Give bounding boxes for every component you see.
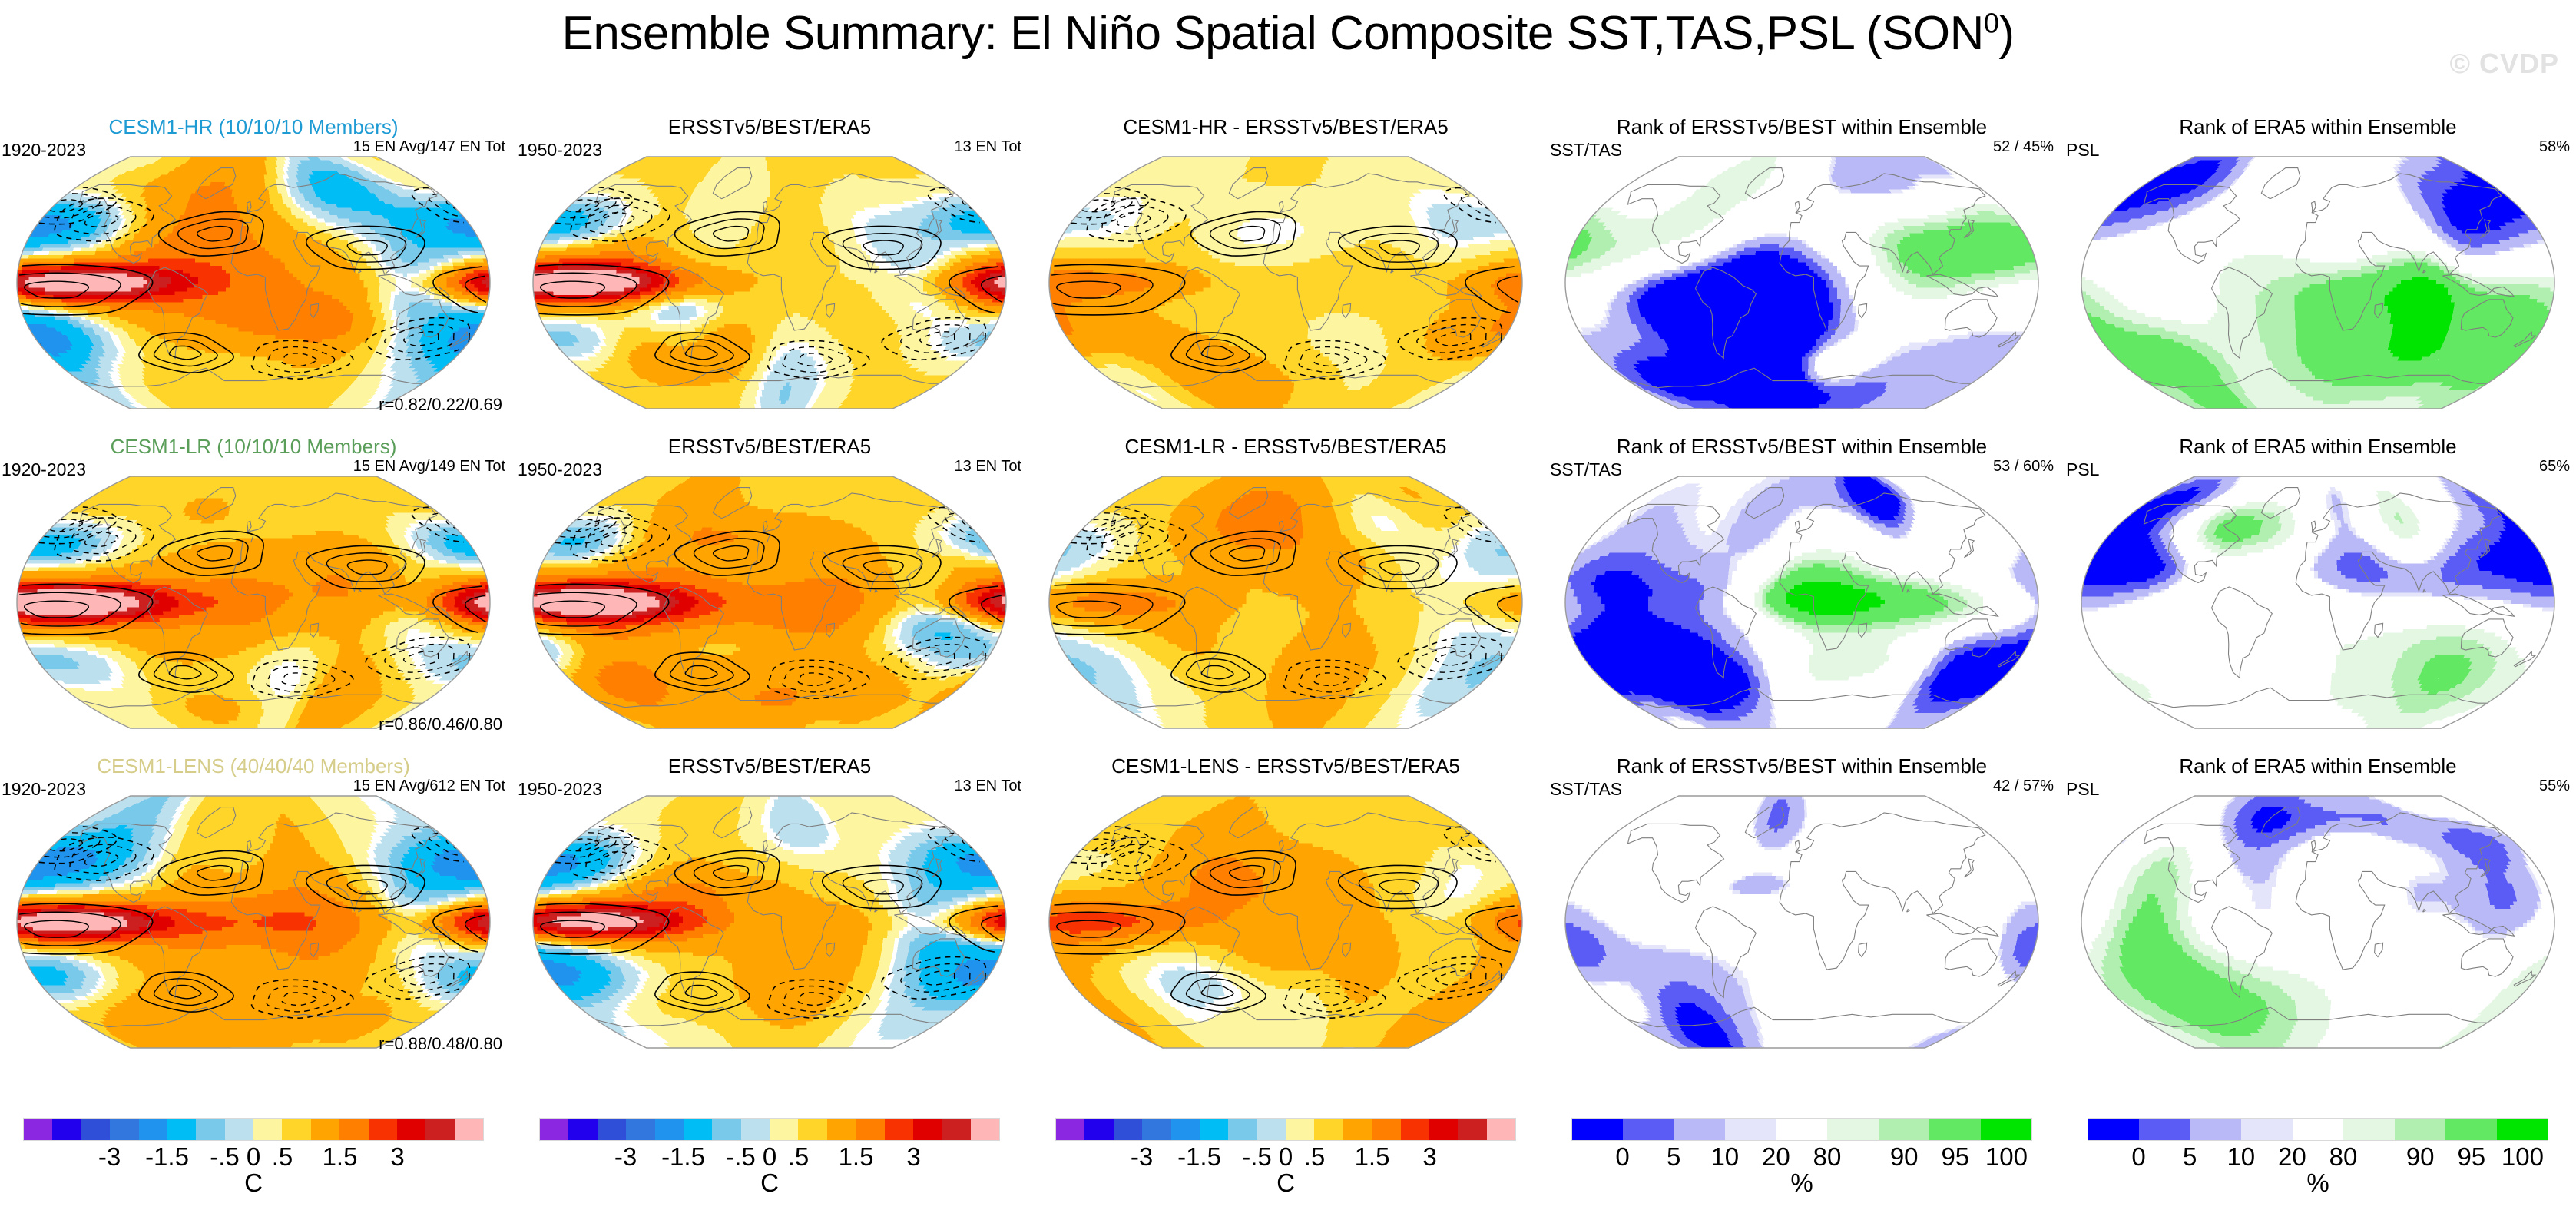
colorbar-swatch-12 xyxy=(1401,1119,1429,1140)
colorbar-swatch-0 xyxy=(1572,1119,1623,1140)
colorbar-swatch-14 xyxy=(425,1119,454,1140)
panel-label-right: 58% xyxy=(2539,138,2570,156)
page-title-tail: ) xyxy=(1998,7,2014,60)
colorbar-swatch-7 xyxy=(225,1119,253,1140)
panel-label-right: 15 EN Avg/612 EN Tot xyxy=(353,777,505,795)
colorbar-swatch-13 xyxy=(913,1119,942,1140)
colorbar-swatch-1 xyxy=(568,1119,597,1140)
colorbar-swatches xyxy=(539,1118,1000,1141)
colorbar-swatch-6 xyxy=(196,1119,224,1140)
colorbar-swatch-12 xyxy=(369,1119,397,1140)
colorbar-swatch-8 xyxy=(1981,1119,2031,1140)
colorbar-swatch-9 xyxy=(282,1119,310,1140)
colorbar-swatch-0 xyxy=(24,1119,52,1140)
colorbar-tick-label: .5 xyxy=(788,1142,810,1172)
map-rank-psl xyxy=(2071,455,2565,741)
colorbar-tick-label: -3 xyxy=(1131,1142,1153,1172)
map-rank-psl xyxy=(2071,774,2565,1060)
colorbar-tick-label: 100 xyxy=(2502,1142,2544,1172)
colorbar-swatch-2 xyxy=(1674,1119,1725,1140)
colorbar-swatch-7 xyxy=(741,1119,770,1140)
colorbar-swatches xyxy=(1055,1118,1516,1141)
colorbar-swatch-3 xyxy=(110,1119,138,1140)
colorbar-swatch-14 xyxy=(1458,1119,1486,1140)
colorbar-swatch-7 xyxy=(1257,1119,1286,1140)
panel-label-left: 1920-2023 xyxy=(2,459,86,480)
map-model-composite xyxy=(6,774,501,1060)
panel-label-left: 1950-2023 xyxy=(518,140,602,161)
colorbar-swatch-1 xyxy=(52,1119,81,1140)
colorbar-tick-label: 3 xyxy=(1422,1142,1436,1172)
page-title: Ensemble Summary: El Niño Spatial Compos… xyxy=(0,6,2576,61)
colorbar-tick-label: 90 xyxy=(1890,1142,1919,1172)
panel-r2-obs-composite: ERSSTv5/BEST/ERA51950-202313 EN Tot xyxy=(516,435,1023,748)
colorbar-swatch-2 xyxy=(81,1119,110,1140)
colorbar-tick-label: .5 xyxy=(272,1142,293,1172)
colorbar-swatch-5 xyxy=(1200,1119,1228,1140)
map-difference xyxy=(1038,774,1533,1060)
panel-r1-difference: CESM1-HR - ERSSTv5/BEST/ERA5 xyxy=(1032,115,1539,429)
colorbar-swatch-4 xyxy=(1776,1119,1827,1140)
colorbar-swatch-1 xyxy=(1623,1119,1674,1140)
panel-r2-difference: CESM1-LR - ERSSTv5/BEST/ERA5 xyxy=(1032,435,1539,748)
panel-label-right: 13 EN Tot xyxy=(955,458,1021,476)
colorbar-ticks: -3-1.5-.50.51.53 xyxy=(1055,1141,1516,1170)
colorbar-swatch-5 xyxy=(2343,1119,2394,1140)
panel-r1-model-composite: CESM1-HR (10/10/10 Members)1920-202315 E… xyxy=(0,115,507,429)
panel-correlation: r=0.88/0.48/0.80 xyxy=(379,1034,502,1054)
colorbar-tick-label: -.5 xyxy=(210,1142,240,1172)
colorbar-ticks: -3-1.5-.50.51.53 xyxy=(23,1141,484,1170)
map-obs-composite xyxy=(522,774,1017,1060)
colorbar-swatch-15 xyxy=(455,1119,483,1140)
colorbar-swatch-9 xyxy=(1314,1119,1343,1140)
cvdp-watermark: © CVDP xyxy=(2449,48,2559,80)
panel-label-right: 15 EN Avg/149 EN Tot xyxy=(353,458,505,476)
colorbar-swatch-4 xyxy=(2293,1119,2343,1140)
map-difference xyxy=(1038,455,1533,741)
colorbar-tick-label: -3 xyxy=(98,1142,121,1172)
colorbar-swatch-8 xyxy=(1286,1119,1314,1140)
colorbar-temperature-col2: -3-1.5-.50.51.53C xyxy=(539,1118,1000,1210)
colorbar-swatch-14 xyxy=(942,1119,970,1140)
colorbar-swatch-0 xyxy=(1056,1119,1084,1140)
colorbar-ticks: 051020809095100 xyxy=(1571,1141,2032,1170)
panel-label-right: 15 EN Avg/147 EN Tot xyxy=(353,138,505,156)
colorbar-unit: % xyxy=(1571,1169,2032,1198)
colorbar-tick-label: 1.5 xyxy=(1355,1142,1390,1172)
colorbar-swatch-2 xyxy=(598,1119,626,1140)
colorbar-tick-label: 20 xyxy=(2278,1142,2306,1172)
colorbar-unit: % xyxy=(2088,1169,2548,1198)
panel-r1-rank-sst-tas: Rank of ERSSTv5/BEST within EnsembleSST/… xyxy=(1548,115,2055,429)
panel-label-left: SST/TAS xyxy=(1550,459,1622,480)
colorbar-swatch-5 xyxy=(684,1119,712,1140)
panel-r1-rank-psl: Rank of ERA5 within EnsemblePSL58% xyxy=(2064,115,2571,429)
colorbar-swatch-8 xyxy=(770,1119,798,1140)
panel-label-right: 42 / 57% xyxy=(1993,777,2054,795)
colorbar-tick-label: 3 xyxy=(906,1142,920,1172)
colorbar-rank-col5: 051020809095100% xyxy=(2088,1118,2548,1210)
colorbar-swatch-5 xyxy=(167,1119,196,1140)
map-model-composite xyxy=(6,135,501,421)
panel-label-right: 13 EN Tot xyxy=(955,777,1021,795)
colorbar-tick-label: 0 xyxy=(2131,1142,2145,1172)
colorbar-swatches xyxy=(1571,1118,2032,1141)
colorbar-swatch-0 xyxy=(540,1119,568,1140)
panel-label-left: 1920-2023 xyxy=(2,140,86,161)
panel-label-left: SST/TAS xyxy=(1550,140,1622,161)
panel-r3-obs-composite: ERSSTv5/BEST/ERA51950-202313 EN Tot xyxy=(516,754,1023,1068)
map-rank-sst-tas xyxy=(1555,135,2049,421)
colorbar-tick-label: 100 xyxy=(1985,1142,2028,1172)
colorbar-swatch-2 xyxy=(1114,1119,1142,1140)
colorbar-swatch-6 xyxy=(2395,1119,2445,1140)
colorbar-tick-label: 10 xyxy=(1710,1142,1739,1172)
panel-label-right: 52 / 45% xyxy=(1993,138,2054,156)
colorbar-tick-label: -1.5 xyxy=(661,1142,705,1172)
colorbar-swatch-15 xyxy=(971,1119,999,1140)
panel-label-left: SST/TAS xyxy=(1550,779,1622,800)
colorbar-tick-label: 95 xyxy=(1941,1142,1969,1172)
colorbar-swatch-3 xyxy=(626,1119,654,1140)
panel-label-right: 53 / 60% xyxy=(1993,458,2054,476)
colorbar-tick-label: -1.5 xyxy=(1177,1142,1221,1172)
colorbar-swatch-11 xyxy=(339,1119,368,1140)
colorbar-tick-label: -3 xyxy=(614,1142,637,1172)
colorbar-swatch-12 xyxy=(885,1119,913,1140)
figure-canvas: Ensemble Summary: El Niño Spatial Compos… xyxy=(0,0,2576,1220)
colorbar-tick-label: 0 xyxy=(247,1142,260,1172)
colorbar-tick-label: 95 xyxy=(2457,1142,2485,1172)
colorbar-swatch-4 xyxy=(1171,1119,1200,1140)
colorbar-swatches xyxy=(2088,1118,2548,1141)
map-model-composite xyxy=(6,455,501,741)
panel-label-right: 13 EN Tot xyxy=(955,138,1021,156)
colorbar-swatch-6 xyxy=(712,1119,740,1140)
colorbar-swatch-10 xyxy=(827,1119,856,1140)
colorbar-tick-label: 0 xyxy=(763,1142,776,1172)
colorbar-tick-label: 0 xyxy=(1279,1142,1293,1172)
colorbar-swatch-11 xyxy=(856,1119,884,1140)
colorbar-swatch-8 xyxy=(253,1119,282,1140)
panel-r2-rank-sst-tas: Rank of ERSSTv5/BEST within EnsembleSST/… xyxy=(1548,435,2055,748)
panel-correlation: r=0.82/0.22/0.69 xyxy=(379,395,502,415)
colorbar-tick-label: 10 xyxy=(2227,1142,2255,1172)
colorbar-swatch-6 xyxy=(1879,1119,1929,1140)
panel-r2-rank-psl: Rank of ERA5 within EnsemblePSL65% xyxy=(2064,435,2571,748)
map-difference xyxy=(1038,135,1533,421)
panel-label-left: 1950-2023 xyxy=(518,459,602,480)
colorbar-swatch-3 xyxy=(1142,1119,1170,1140)
colorbar-tick-label: 5 xyxy=(2183,1142,2197,1172)
panel-label-left: PSL xyxy=(2066,140,2099,161)
colorbar-swatch-4 xyxy=(655,1119,684,1140)
colorbar-tick-label: 80 xyxy=(2329,1142,2358,1172)
colorbar-tick-label: 1.5 xyxy=(323,1142,358,1172)
colorbar-swatch-11 xyxy=(1372,1119,1400,1140)
map-rank-sst-tas xyxy=(1555,455,2049,741)
colorbar-unit: C xyxy=(23,1169,484,1198)
colorbar-swatch-13 xyxy=(397,1119,425,1140)
panel-label-left: PSL xyxy=(2066,459,2099,480)
colorbar-tick-label: 80 xyxy=(1813,1142,1842,1172)
colorbar-swatch-0 xyxy=(2088,1119,2139,1140)
colorbar-tick-label: 1.5 xyxy=(839,1142,874,1172)
colorbar-temperature-col1: -3-1.5-.50.51.53C xyxy=(23,1118,484,1210)
colorbar-ticks: -3-1.5-.50.51.53 xyxy=(539,1141,1000,1170)
panel-label-left: PSL xyxy=(2066,779,2099,800)
colorbar-tick-label: 3 xyxy=(390,1142,404,1172)
colorbar-swatch-6 xyxy=(1228,1119,1257,1140)
colorbar-swatch-9 xyxy=(798,1119,826,1140)
colorbar-unit: C xyxy=(1055,1169,1516,1198)
colorbar-tick-label: -1.5 xyxy=(145,1142,189,1172)
colorbar-swatch-4 xyxy=(139,1119,167,1140)
colorbar-swatches xyxy=(23,1118,484,1141)
colorbar-unit: C xyxy=(539,1169,1000,1198)
colorbar-tick-label: -.5 xyxy=(1242,1142,1272,1172)
colorbar-swatch-10 xyxy=(1343,1119,1372,1140)
colorbar-swatch-5 xyxy=(1827,1119,1878,1140)
map-rank-sst-tas xyxy=(1555,774,2049,1060)
colorbar-swatch-7 xyxy=(2445,1119,2496,1140)
colorbar-tick-label: -.5 xyxy=(726,1142,756,1172)
colorbar-swatch-10 xyxy=(311,1119,339,1140)
colorbar-swatch-7 xyxy=(1929,1119,1980,1140)
page-title-superscript: 0 xyxy=(1984,7,1999,38)
panel-label-left: 1920-2023 xyxy=(2,779,86,800)
colorbar-swatch-1 xyxy=(2139,1119,2190,1140)
colorbar-temperature-col3: -3-1.5-.50.51.53C xyxy=(1055,1118,1516,1210)
colorbar-swatch-13 xyxy=(1429,1119,1458,1140)
panel-r3-rank-psl: Rank of ERA5 within EnsemblePSL55% xyxy=(2064,754,2571,1068)
map-obs-composite xyxy=(522,455,1017,741)
colorbar-swatch-2 xyxy=(2190,1119,2241,1140)
map-obs-composite xyxy=(522,135,1017,421)
colorbar-tick-label: 20 xyxy=(1762,1142,1790,1172)
panel-label-right: 55% xyxy=(2539,777,2570,795)
colorbar-ticks: 051020809095100 xyxy=(2088,1141,2548,1170)
colorbar-swatch-1 xyxy=(1084,1119,1113,1140)
colorbar-tick-label: 0 xyxy=(1615,1142,1629,1172)
page-title-main: Ensemble Summary: El Niño Spatial Compos… xyxy=(562,7,1984,60)
colorbar-tick-label: 90 xyxy=(2406,1142,2435,1172)
map-rank-psl xyxy=(2071,135,2565,421)
colorbar-swatch-3 xyxy=(2241,1119,2292,1140)
colorbar-rank-col4: 051020809095100% xyxy=(1571,1118,2032,1210)
panel-label-right: 65% xyxy=(2539,458,2570,476)
panel-label-left: 1950-2023 xyxy=(518,779,602,800)
colorbar-tick-label: 5 xyxy=(1667,1142,1680,1172)
panel-r2-model-composite: CESM1-LR (10/10/10 Members)1920-202315 E… xyxy=(0,435,507,748)
panel-r1-obs-composite: ERSSTv5/BEST/ERA51950-202313 EN Tot xyxy=(516,115,1023,429)
panel-r3-rank-sst-tas: Rank of ERSSTv5/BEST within EnsembleSST/… xyxy=(1548,754,2055,1068)
panel-correlation: r=0.86/0.46/0.80 xyxy=(379,714,502,734)
colorbar-swatch-3 xyxy=(1725,1119,1776,1140)
panel-r3-model-composite: CESM1-LENS (40/40/40 Members)1920-202315… xyxy=(0,754,507,1068)
colorbar-tick-label: .5 xyxy=(1304,1142,1326,1172)
colorbar-swatch-15 xyxy=(1487,1119,1515,1140)
colorbar-swatch-8 xyxy=(2497,1119,2548,1140)
panel-r3-difference: CESM1-LENS - ERSSTv5/BEST/ERA5 xyxy=(1032,754,1539,1068)
